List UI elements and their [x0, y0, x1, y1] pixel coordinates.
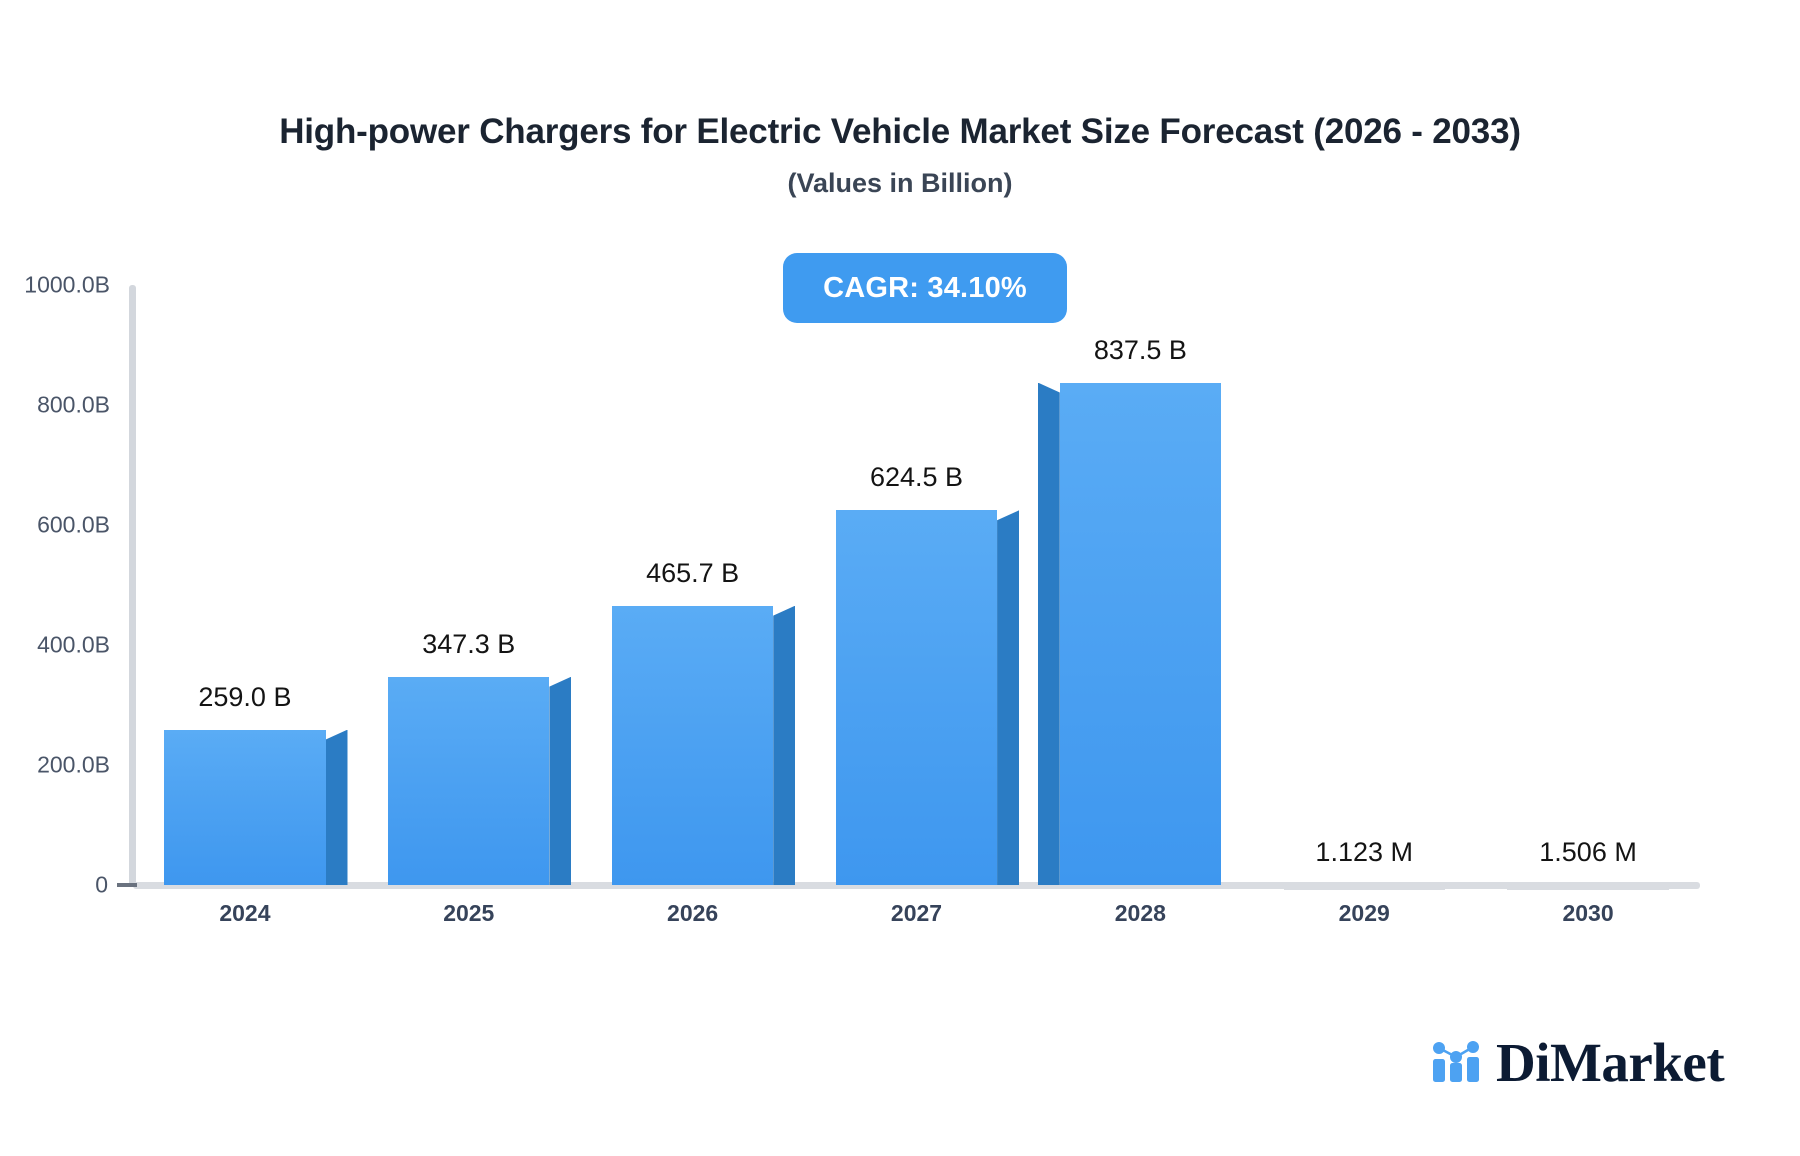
bar-value-label: 624.5 B: [806, 462, 1027, 493]
bar-chart-icon: [1430, 1037, 1482, 1088]
x-tick-label: 2025: [359, 900, 579, 927]
y-tick-label: 1000.0B: [0, 272, 110, 299]
bar-face: [1060, 383, 1221, 886]
x-tick-label: 2024: [135, 900, 355, 927]
bar-face: [836, 510, 997, 885]
logo-text: DiMarket: [1496, 1035, 1724, 1090]
bar: [1060, 383, 1221, 886]
cagr-badge: CAGR: 34.10%: [783, 253, 1067, 323]
bar-face: [1507, 885, 1668, 890]
bar-value-label: 259.0 B: [134, 682, 355, 713]
bar-face: [388, 677, 549, 885]
bar: [388, 677, 549, 885]
x-tick-label: 2030: [1478, 900, 1698, 927]
bar-face: [1284, 885, 1445, 890]
bar-value-label: 837.5 B: [1030, 335, 1251, 366]
y-tick-label: 800.0B: [0, 392, 110, 419]
y-tick-label: 600.0B: [0, 512, 110, 539]
y-axis-line: [129, 285, 136, 887]
bar: [836, 510, 997, 885]
bar: [164, 730, 325, 885]
bar-face: [612, 606, 773, 885]
bar: [1284, 885, 1445, 890]
bar-side-face: [326, 730, 348, 885]
bar: [612, 606, 773, 885]
x-tick-label: 2027: [807, 900, 1027, 927]
chart-container: High-power Chargers for Electric Vehicle…: [0, 0, 1800, 1156]
y-tick-label: 200.0B: [0, 752, 110, 779]
bar-value-label: 347.3 B: [358, 629, 579, 660]
bar-side-face: [773, 606, 795, 885]
dimarket-logo: DiMarket: [1430, 1035, 1724, 1090]
bar-value-label: 465.7 B: [582, 558, 803, 589]
bar-face: [164, 730, 325, 885]
chart-title: High-power Chargers for Electric Vehicle…: [0, 112, 1800, 152]
x-tick-label: 2029: [1254, 900, 1474, 927]
x-tick-label: 2028: [1030, 900, 1250, 927]
bar: [1507, 885, 1668, 890]
y-tick-label-0: 0: [68, 872, 108, 899]
bar-value-label: 1.506 M: [1477, 837, 1698, 868]
y-axis-zero-tick: [117, 883, 137, 887]
bar-value-label: 1.123 M: [1254, 837, 1475, 868]
bar-side-face: [1038, 383, 1060, 886]
bar-side-face: [549, 677, 571, 885]
chart-subtitle: (Values in Billion): [0, 168, 1800, 199]
bar-side-face: [997, 510, 1019, 885]
x-tick-label: 2026: [583, 900, 803, 927]
y-tick-label: 400.0B: [0, 632, 110, 659]
